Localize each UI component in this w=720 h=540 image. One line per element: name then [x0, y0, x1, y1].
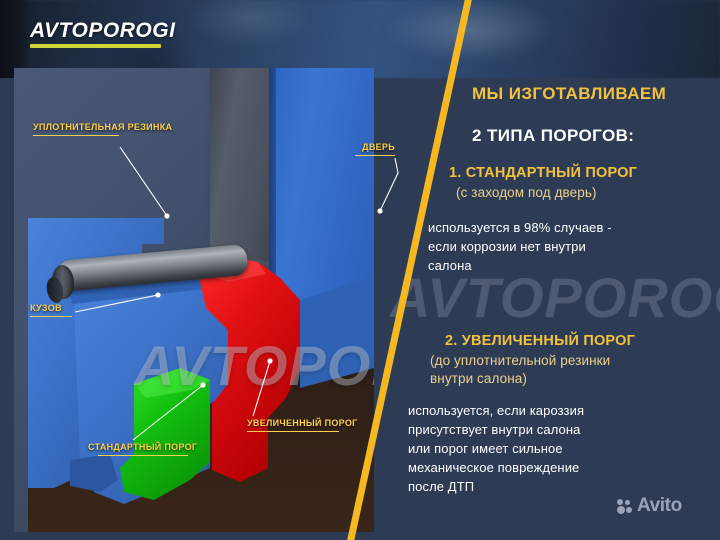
avito-watermark: Avito [617, 496, 682, 515]
main-heading-line2: 2 ТИПА ПОРОГОВ: [472, 125, 666, 146]
section-1-title: 1. СТАНДАРТНЫЙ ПОРОГ [449, 165, 637, 181]
main-heading: МЫ ИЗГОТАВЛИВАЕМ 2 ТИПА ПОРОГОВ: [472, 62, 666, 167]
main-heading-line1: МЫ ИЗГОТАВЛИВАЕМ [472, 83, 666, 104]
section-2-title: 2. УВЕЛИЧЕННЫЙ ПОРОГ [445, 333, 635, 349]
infographic-canvas: AVTOPOROGI [0, 0, 720, 540]
right-content-column: МЫ ИЗГОТАВЛИВАЕМ 2 ТИПА ПОРОГОВ: 1. СТАН… [0, 0, 720, 540]
section-2-subtitle: (до уплотнительной резинки внутри салона… [430, 352, 610, 388]
avito-wordmark: Avito [637, 496, 682, 515]
section-2-body: используется, если кароззия присутствует… [408, 401, 584, 496]
section-1-body: используется в 98% случаев - если корроз… [428, 218, 612, 275]
section-1-subtitle: (с заходом под дверь) [456, 184, 597, 202]
avito-dots-icon [617, 499, 633, 513]
